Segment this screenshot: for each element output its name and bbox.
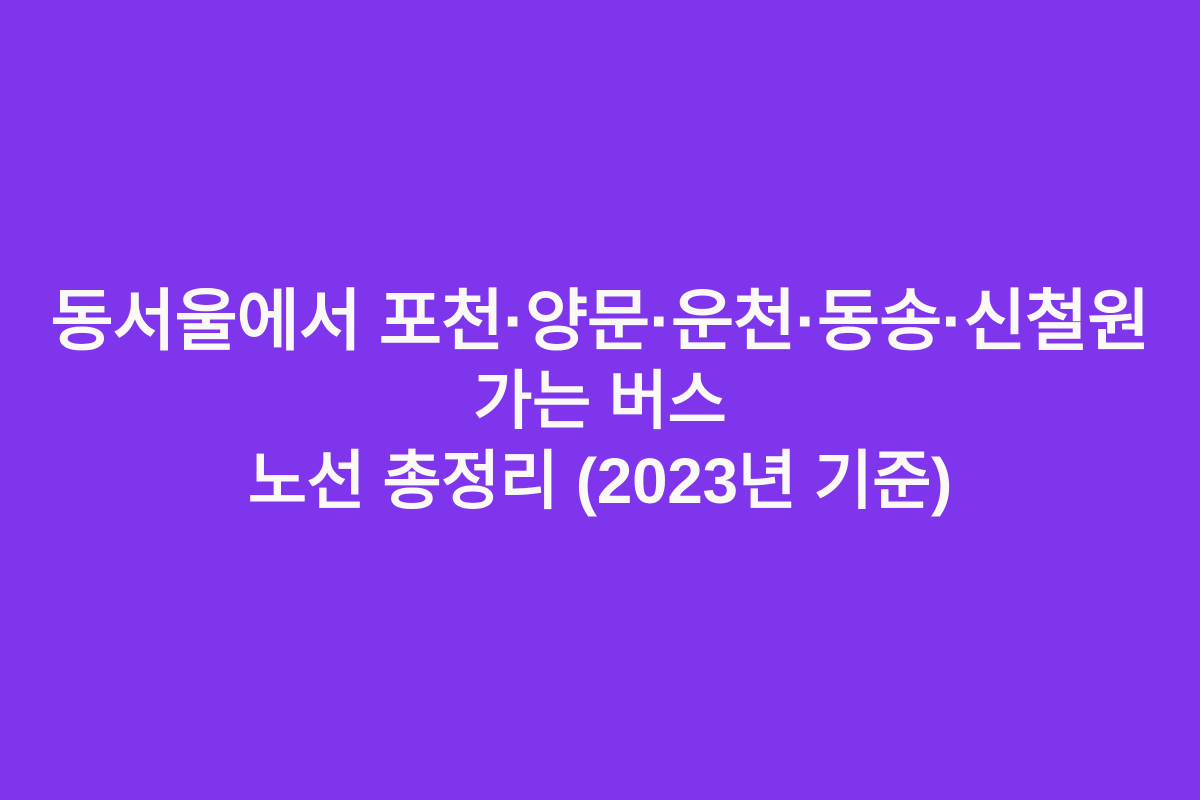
title-line-3: 노선 총정리 (2023년 기준)	[12, 449, 1188, 513]
title-line-1: 동서울에서 포천·양문·운천·동송·신철원	[0, 288, 1200, 355]
page-title: 동서울에서 포천·양문·운천·동송·신철원 가는 버스 노선 총정리 (2023…	[0, 288, 1200, 513]
title-line-2: 가는 버스	[12, 369, 1188, 433]
thumbnail-card: 동서울에서 포천·양문·운천·동송·신철원 가는 버스 노선 총정리 (2023…	[0, 0, 1200, 800]
